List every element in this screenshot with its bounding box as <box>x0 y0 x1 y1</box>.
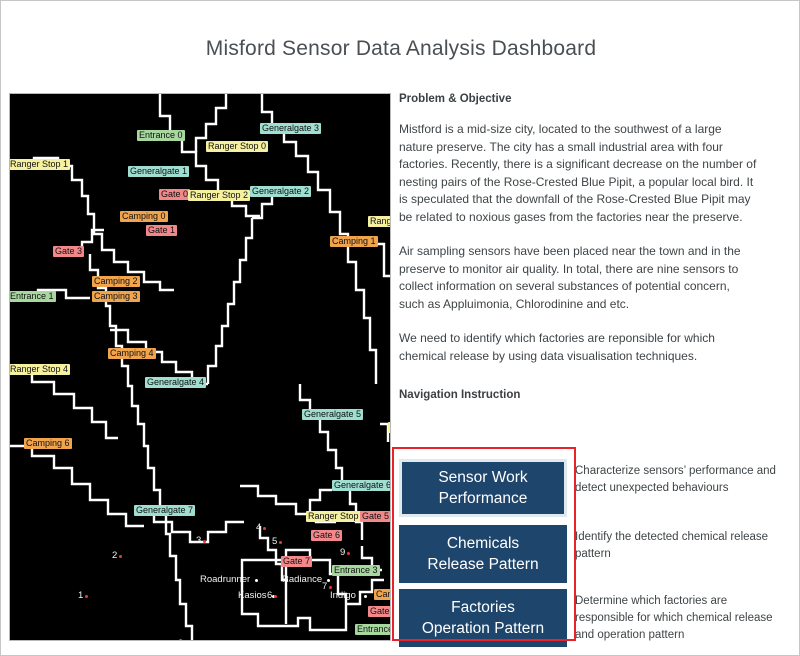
map-label-ranger-stop-2[interactable]: Ranger Stop 2 <box>188 190 250 201</box>
map-label-gate-3[interactable]: Gate 3 <box>53 246 84 257</box>
factory-marker-roadrunner <box>255 579 258 582</box>
sensor-marker-6 <box>274 595 277 598</box>
nav-row-3: FactoriesOperation PatternDetermine whic… <box>399 589 793 647</box>
sensor-label-8[interactable]: 8 <box>178 638 183 641</box>
sensor-label-7[interactable]: 7 <box>322 581 327 592</box>
dashboard-page: Misford Sensor Data Analysis Dashboard <box>0 0 800 656</box>
factory-label-roadrunner[interactable]: Roadrunner <box>200 574 250 585</box>
nav-row-2: ChemicalsRelease PatternIdentify the det… <box>399 525 793 583</box>
map-label-ranger-stop-3[interactable]: Ranger Stop 3 <box>368 216 391 227</box>
problem-objective-heading: Problem & Objective <box>399 93 793 105</box>
sensor-label-4[interactable]: 4 <box>256 522 261 533</box>
sensor-marker-1 <box>85 595 88 598</box>
map-label-generalgate-7[interactable]: Generalgate 7 <box>134 505 195 516</box>
map-label-camping-2[interactable]: Camping 2 <box>92 276 140 287</box>
map-label-ranger-stop-5[interactable]: Ranger Stop 5 <box>306 511 368 522</box>
nav-button-sensor-work[interactable]: Sensor WorkPerformance <box>399 459 567 517</box>
navigation-instruction-heading: Navigation Instruction <box>399 389 793 401</box>
map-label-generalgate-3[interactable]: Generalgate 3 <box>260 123 321 134</box>
factory-label-indigo[interactable]: Indigo <box>330 590 356 601</box>
sensor-label-9[interactable]: 9 <box>340 547 345 558</box>
map-label-generalgate-5[interactable]: Generalgate 5 <box>302 409 363 420</box>
factory-label-kasios[interactable]: Kasios <box>238 590 267 601</box>
nav-button-label-line1: Sensor Work <box>438 467 527 488</box>
map-label-ranger-stop-1[interactable]: Ranger Stop 1 <box>9 159 70 170</box>
sensor-marker-9 <box>347 552 350 555</box>
sensor-marker-7 <box>329 586 332 589</box>
paragraph-objective: We need to identify which factories are … <box>399 330 757 365</box>
paragraph-city-background: Mistford is a mid-size city, located to … <box>399 121 757 226</box>
map-label-gate-5[interactable]: Gate 5 <box>360 511 391 522</box>
map-label-entrance-1[interactable]: Entrance 1 <box>9 291 56 302</box>
sensor-label-2[interactable]: 2 <box>112 550 117 561</box>
map-label-ranger-stop-0[interactable]: Ranger Stop 0 <box>206 141 268 152</box>
nav-description-1: Characterize sensors’ performance and de… <box>575 459 783 497</box>
page-title: Misford Sensor Data Analysis Dashboard <box>1 37 800 61</box>
map-label-camping-5[interactable]: Camping 5 <box>374 589 391 600</box>
nav-description-2: Identify the detected chemical release p… <box>575 525 783 563</box>
content-column: Problem & Objective Mistford is a mid-si… <box>399 93 793 401</box>
nav-button-label-line2: Operation Pattern <box>422 618 544 639</box>
nav-button-label-line2: Release Pattern <box>427 554 538 575</box>
map-label-gate-1[interactable]: Gate 1 <box>146 225 177 236</box>
nav-button-chemicals[interactable]: ChemicalsRelease Pattern <box>399 525 567 583</box>
nav-row-1: Sensor WorkPerformanceCharacterize senso… <box>399 459 793 517</box>
map-label-gate-0[interactable]: Gate 0 <box>159 189 190 200</box>
sensor-label-6[interactable]: 6 <box>267 590 272 601</box>
map-label-generalgate-2[interactable]: Generalgate 2 <box>250 186 311 197</box>
nav-button-label-line1: Chemicals <box>447 533 519 554</box>
nav-button-factories[interactable]: FactoriesOperation Pattern <box>399 589 567 647</box>
navigation-block: Sensor WorkPerformanceCharacterize senso… <box>399 447 793 647</box>
sensor-label-1[interactable]: 1 <box>78 590 83 601</box>
map-label-camping-1[interactable]: Camping 1 <box>330 236 378 247</box>
nav-button-label-line1: Factories <box>451 597 515 618</box>
map-label-generalgate-6[interactable]: Generalgate 6 <box>332 480 391 491</box>
map-label-camping-0[interactable]: Camping 0 <box>120 211 168 222</box>
sensor-marker-4 <box>263 527 266 530</box>
map-label-entrance-0[interactable]: Entrance 0 <box>137 130 185 141</box>
map-label-ranger-stop-6[interactable]: Ranger Stop 6 <box>388 422 391 433</box>
sensor-marker-5 <box>279 541 282 544</box>
map-panel[interactable]: Ranger Stop 1Entrance 0Generalgate 3Gene… <box>9 93 391 641</box>
factory-label-radiance[interactable]: Radiance <box>282 574 322 585</box>
map-label-camping-4[interactable]: Camping 4 <box>108 348 156 359</box>
sensor-label-3[interactable]: 3 <box>196 535 201 546</box>
map-label-generalgate-4[interactable]: Generalgate 4 <box>145 377 206 388</box>
sensor-marker-2 <box>119 555 122 558</box>
sensor-label-5[interactable]: 5 <box>272 536 277 547</box>
nav-button-label-line2: Performance <box>439 488 528 509</box>
map-label-entrance-2[interactable]: Entrance 2 <box>355 624 391 635</box>
map-label-ranger-stop-4[interactable]: Ranger Stop 4 <box>9 364 70 375</box>
map-label-gate-6[interactable]: Gate 6 <box>311 530 342 541</box>
nav-description-3: Determine which factories are responsibl… <box>575 589 783 644</box>
paragraph-sensors: Air sampling sensors have been placed ne… <box>399 243 757 313</box>
map-label-camping-3[interactable]: Camping 3 <box>92 291 140 302</box>
map-label-camping-6[interactable]: Camping 6 <box>24 438 72 449</box>
map-label-generalgate-1[interactable]: Generalgate 1 <box>128 166 189 177</box>
sensor-marker-3 <box>203 540 206 543</box>
map-label-entrance-3[interactable]: Entrance 3 <box>332 565 380 576</box>
map-label-gate-7[interactable]: Gate 7 <box>281 556 312 567</box>
map-label-gate-4[interactable]: Gate 4 <box>368 606 391 617</box>
